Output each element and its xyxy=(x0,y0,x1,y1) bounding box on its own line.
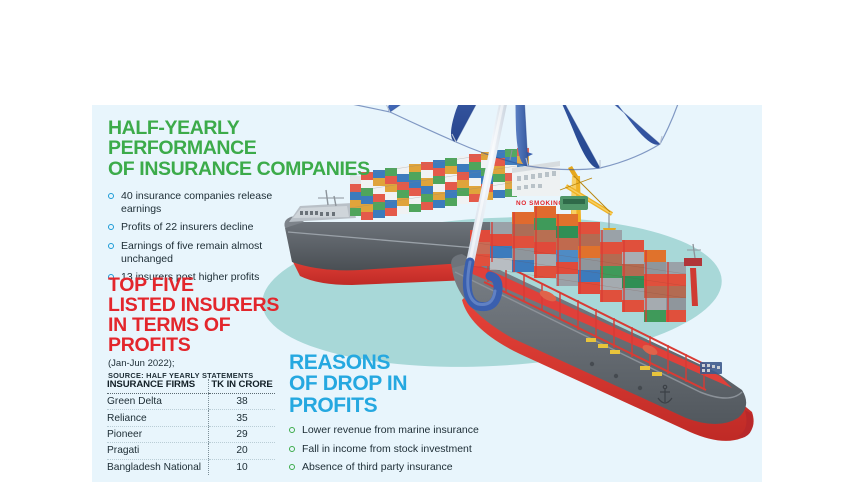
bullet-circle-icon xyxy=(108,224,114,230)
period-label: (Jan-Jun 2022); xyxy=(108,358,298,369)
top-five-table-wrap: INSURANCE FIRMS TK IN CRORE Green Delta … xyxy=(107,379,275,475)
table-row: Pragati 20 xyxy=(107,443,275,459)
insurance-firms-table: INSURANCE FIRMS TK IN CRORE Green Delta … xyxy=(107,379,275,475)
cell-firm: Bangladesh National xyxy=(107,459,209,475)
performance-section: HALF-YEARLY PERFORMANCE OF INSURANCE COM… xyxy=(108,118,388,290)
top-five-title: TOP FIVE LISTED INSURERS IN TERMS OF PRO… xyxy=(108,275,298,355)
column-header-firm: INSURANCE FIRMS xyxy=(107,379,209,394)
table-header-row: INSURANCE FIRMS TK IN CRORE xyxy=(107,379,275,394)
reasons-section: REASONS OF DROP IN PROFITS Lower revenue… xyxy=(289,352,519,480)
bullet-circle-icon xyxy=(289,427,295,433)
cell-value: 29 xyxy=(209,426,275,442)
top-five-section: TOP FIVE LISTED INSURERS IN TERMS OF PRO… xyxy=(108,275,298,380)
column-header-value: TK IN CRORE xyxy=(209,379,275,394)
cell-value: 35 xyxy=(209,410,275,426)
list-item: Lower revenue from marine insurance xyxy=(289,424,519,437)
bullet-circle-icon xyxy=(108,193,114,199)
table-row: Green Delta 38 xyxy=(107,394,275,410)
list-item: Fall in income from stock investment xyxy=(289,443,519,456)
list-item: 40 insurance companies release earnings xyxy=(108,190,276,216)
performance-bullet-list: 40 insurance companies release earnings … xyxy=(108,190,276,285)
bullet-circle-icon xyxy=(289,446,295,452)
performance-title: HALF-YEARLY PERFORMANCE OF INSURANCE COM… xyxy=(108,118,388,179)
table-row: Pioneer 29 xyxy=(107,426,275,442)
cell-value: 38 xyxy=(209,394,275,410)
reasons-title: REASONS OF DROP IN PROFITS xyxy=(289,352,519,416)
reasons-bullet-list: Lower revenue from marine insurance Fall… xyxy=(289,424,519,474)
cell-firm: Green Delta xyxy=(107,394,209,410)
infographic-canvas: NO SMOKING xyxy=(0,0,857,482)
cell-firm: Reliance xyxy=(107,410,209,426)
bullet-circle-icon xyxy=(108,243,114,249)
list-item: Profits of 22 insurers decline xyxy=(108,221,276,234)
list-item: Earnings of five remain almost unchanged xyxy=(108,240,276,266)
cell-firm: Pioneer xyxy=(107,426,209,442)
cell-value: 20 xyxy=(209,443,275,459)
cell-firm: Pragati xyxy=(107,443,209,459)
table-row: Bangladesh National 10 xyxy=(107,459,275,475)
bullet-circle-icon xyxy=(289,464,295,470)
list-item: Absence of third party insurance xyxy=(289,461,519,474)
table-row: Reliance 35 xyxy=(107,410,275,426)
cell-value: 10 xyxy=(209,459,275,475)
